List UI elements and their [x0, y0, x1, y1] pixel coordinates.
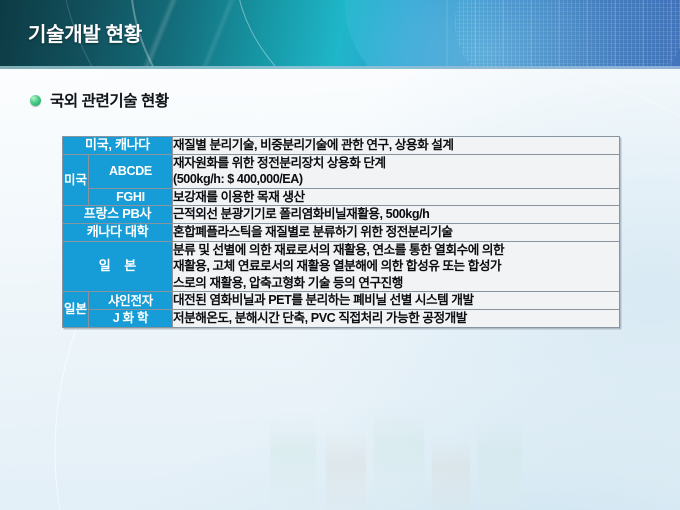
- region-sub-cell: J 화 학: [89, 310, 173, 328]
- description-line: 혼합폐플라스틱을 재질별로 분류하기 위한 정전분리기술: [173, 224, 619, 241]
- table-row: 프랑스 PB사 근적외선 분광기기로 폴리염화비닐재활용, 500kg/h: [63, 206, 620, 224]
- description-cell: 저분해온도, 분해시간 단축, PVC 직접처리 가능한 공정개발: [173, 310, 620, 328]
- slide-title: 기술개발 현황: [28, 18, 142, 47]
- region-cell: 캐나다 대학: [63, 224, 173, 242]
- description-cell: 재질별 분리기술, 비중분리기술에 관한 연구, 상용화 설계: [173, 137, 620, 155]
- section-heading-row: 국외 관련기술 현황: [30, 89, 169, 111]
- region-group-cell: 미국: [63, 154, 89, 206]
- slide-canvas: 기술개발 현황 국외 관련기술 현황 미국, 캐나다 재질별 분리기술, 비중분…: [0, 0, 680, 510]
- description-cell: 재자원화를 위한 정전분리장치 상용화 단계 (500kg/h: $ 400,0…: [173, 154, 620, 188]
- description-line: 분류 및 선별에 의한 재료로서의 재활용, 연소를 통한 열회수에 의한: [173, 242, 619, 259]
- bottle-watermark-image: [240, 396, 570, 510]
- table-row: J 화 학 저분해온도, 분해시간 단축, PVC 직접처리 가능한 공정개발: [63, 310, 620, 328]
- description-cell: 보강재를 이용한 목재 생산: [173, 188, 620, 206]
- description-line: 근적외선 분광기기로 폴리염화비닐재활용, 500kg/h: [173, 206, 619, 223]
- table-row: FGHI 보강재를 이용한 목재 생산: [63, 188, 620, 206]
- table-row: 일 본 분류 및 선별에 의한 재료로서의 재활용, 연소를 통한 열회수에 의…: [63, 241, 620, 292]
- description-cell: 분류 및 선별에 의한 재료로서의 재활용, 연소를 통한 열회수에 의한 재활…: [173, 241, 620, 292]
- region-cell: 미국, 캐나다: [63, 137, 173, 155]
- description-line: (500kg/h: $ 400,000/EA): [173, 171, 619, 188]
- table-row: 미국 ABCDE 재자원화를 위한 정전분리장치 상용화 단계 (500kg/h…: [63, 154, 620, 188]
- description-line: 저분해온도, 분해시간 단축, PVC 직접처리 가능한 공정개발: [173, 310, 619, 327]
- description-line: 재활용, 고체 연료로서의 재활용 열분해에 의한 합성유 또는 합성가: [173, 258, 619, 275]
- description-line: 재자원화를 위한 정전분리장치 상용화 단계: [173, 155, 619, 172]
- description-line: 대전된 염화비닐과 PET를 분리하는 폐비닐 선별 시스템 개발: [173, 292, 619, 309]
- table-row: 일본 샤인전자 대전된 염화비닐과 PET를 분리하는 폐비닐 선별 시스템 개…: [63, 292, 620, 310]
- table-row: 미국, 캐나다 재질별 분리기술, 비중분리기술에 관한 연구, 상용화 설계: [63, 137, 620, 155]
- description-line: 스로의 재활용, 압축고형화 기술 등의 연구진행: [173, 275, 619, 292]
- region-cell: 일 본: [63, 241, 173, 292]
- region-cell: 프랑스 PB사: [63, 206, 173, 224]
- description-cell: 혼합폐플라스틱을 재질별로 분류하기 위한 정전분리기술: [173, 224, 620, 242]
- description-line: 보강재를 이용한 목재 생산: [173, 189, 619, 206]
- table-row: 캐나다 대학 혼합폐플라스틱을 재질별로 분류하기 위한 정전분리기술: [63, 224, 620, 242]
- region-sub-cell: ABCDE: [89, 154, 173, 188]
- banner-bottom-edge: [0, 66, 680, 69]
- description-line: 재질별 분리기술, 비중분리기술에 관한 연구, 상용화 설계: [173, 137, 619, 154]
- banner-tick-marks: [420, 0, 680, 66]
- section-heading-label: 국외 관련기술 현황: [50, 89, 169, 111]
- region-sub-cell: FGHI: [89, 188, 173, 206]
- description-cell: 근적외선 분광기기로 폴리염화비닐재활용, 500kg/h: [173, 206, 620, 224]
- region-sub-cell: 샤인전자: [89, 292, 173, 310]
- table-body: 미국, 캐나다 재질별 분리기술, 비중분리기술에 관한 연구, 상용화 설계 …: [63, 137, 620, 328]
- description-cell: 대전된 염화비닐과 PET를 분리하는 폐비닐 선별 시스템 개발: [173, 292, 620, 310]
- green-dot-bullet-icon: [30, 95, 41, 106]
- technology-status-table: 미국, 캐나다 재질별 분리기술, 비중분리기술에 관한 연구, 상용화 설계 …: [62, 136, 620, 328]
- region-group-cell: 일본: [63, 292, 89, 327]
